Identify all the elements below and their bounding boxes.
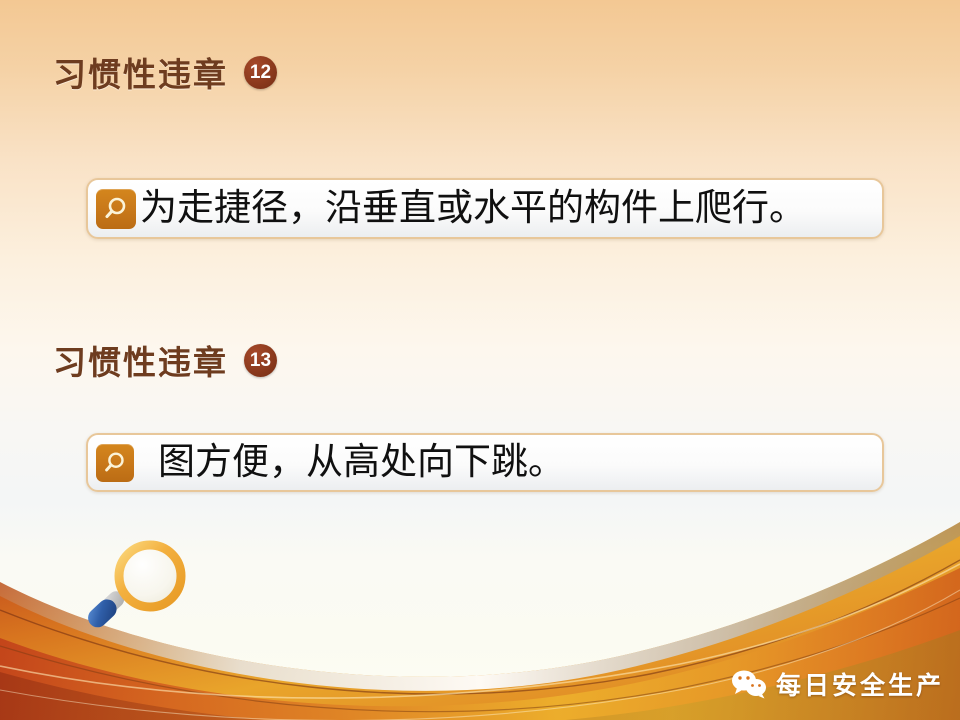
- magnifier-glyph-1: [101, 194, 131, 224]
- section-badge-2: 13: [244, 344, 277, 377]
- magnifier-glyph-2: [101, 449, 129, 477]
- magnifier-ring: [119, 545, 181, 607]
- heading-label-2: 习惯性违章: [53, 336, 228, 384]
- statement-text-2: 图方便，从高处向下跳。: [158, 444, 565, 481]
- statement-text-1: 为走捷径，沿垂直或水平的构件上爬行。: [140, 190, 806, 227]
- section-heading-1: 习惯性违章 12: [53, 48, 277, 96]
- section-badge-1: 12: [244, 56, 277, 89]
- magnifier-icon-2: [96, 444, 134, 482]
- watermark: 每日安全生产: [731, 666, 944, 702]
- wechat-logo-icon: [731, 669, 767, 699]
- heading-label-1: 习惯性违章: [53, 48, 228, 96]
- slide-canvas: 习惯性违章 12 为走捷径，沿垂直或水平的构件上爬行。 习惯性违章 13 图方便…: [0, 0, 960, 720]
- magnifier-shaft: [95, 588, 128, 620]
- magnifier-handle: [84, 596, 120, 632]
- statement-box-2[interactable]: 图方便，从高处向下跳。: [86, 433, 884, 492]
- magnifier-lens: [119, 545, 181, 607]
- statement-box-1[interactable]: 为走捷径，沿垂直或水平的构件上爬行。: [86, 178, 884, 239]
- watermark-label: 每日安全生产: [776, 666, 944, 702]
- magnifier-icon-1: [96, 189, 136, 229]
- section-heading-2: 习惯性违章 13: [53, 336, 277, 384]
- magnifier-decoration-icon: [84, 534, 204, 640]
